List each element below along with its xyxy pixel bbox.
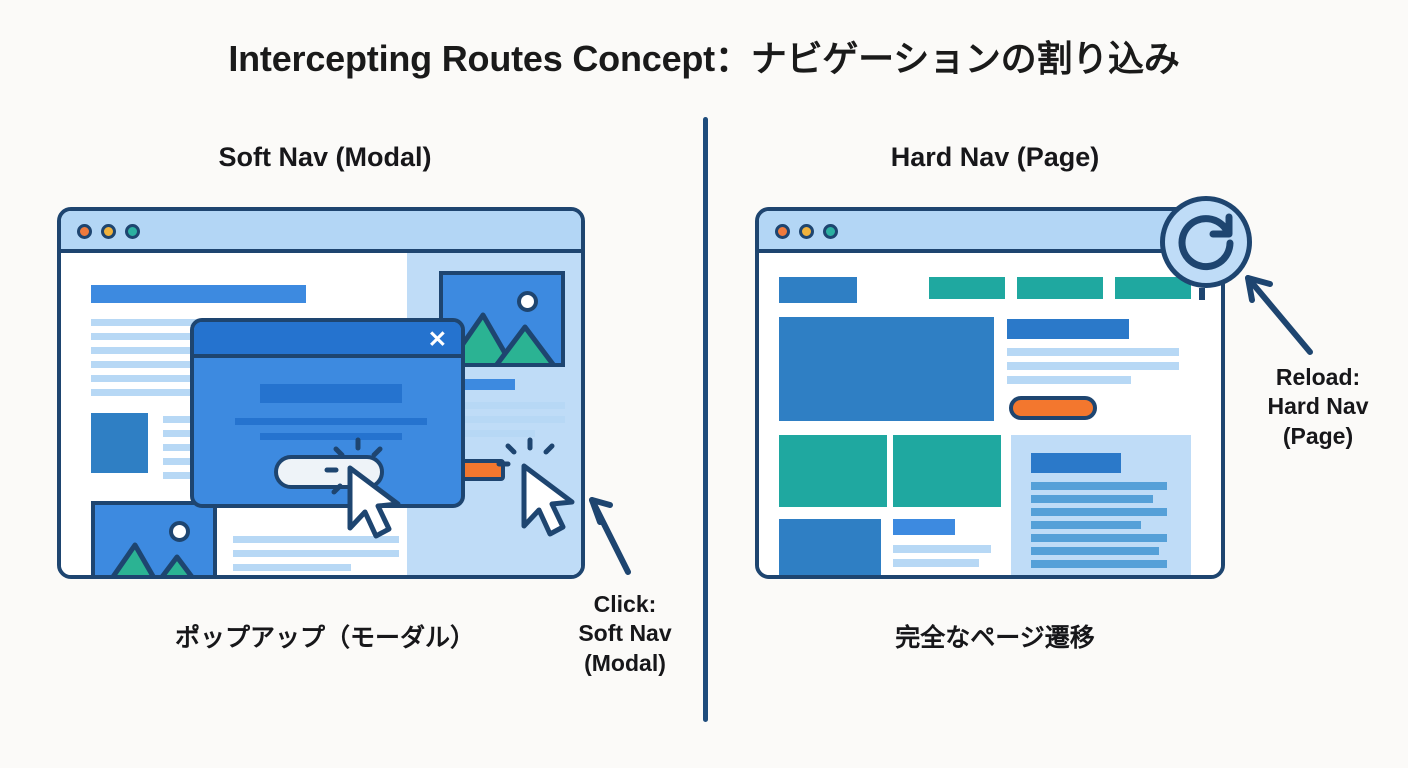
content-text-line bbox=[1007, 362, 1179, 370]
modal-action-button[interactable] bbox=[274, 455, 384, 489]
left-panel-caption: ポップアップ（モーダル） bbox=[55, 618, 595, 654]
modal-heading-bar bbox=[260, 384, 402, 403]
content-text-line bbox=[233, 536, 399, 543]
minimize-dot[interactable] bbox=[799, 224, 814, 239]
card-block bbox=[779, 435, 887, 507]
nav-item-block[interactable] bbox=[929, 277, 1005, 299]
left-annotation-arrow bbox=[592, 500, 628, 572]
footer-heading-bar bbox=[893, 519, 955, 535]
close-icon[interactable]: ✕ bbox=[428, 328, 447, 350]
aside-heading-bar bbox=[1031, 453, 1121, 473]
mountain-icon bbox=[95, 505, 217, 579]
content-text-line bbox=[1007, 348, 1179, 356]
content-text-line bbox=[1031, 495, 1153, 503]
modal-text-line bbox=[260, 433, 402, 440]
minimize-dot[interactable] bbox=[101, 224, 116, 239]
close-dot[interactable] bbox=[775, 224, 790, 239]
right-annotation-label: Reload: Hard Nav (Page) bbox=[1238, 363, 1398, 451]
content-text-line bbox=[1031, 521, 1141, 529]
right-panel-caption: 完全なページ遷移 bbox=[760, 618, 1230, 654]
content-text-line bbox=[233, 564, 351, 571]
reload-badge[interactable] bbox=[1160, 196, 1252, 288]
right-panel-heading: Hard Nav (Page) bbox=[760, 142, 1230, 173]
modal-text-line bbox=[235, 418, 427, 425]
left-annotation-label: Click: Soft Nav (Modal) bbox=[546, 590, 704, 678]
diagram-canvas: Intercepting Routes Concept：ナビゲーションの割り込み… bbox=[0, 0, 1408, 768]
image-placeholder-bottom-left bbox=[91, 501, 217, 579]
content-text-line bbox=[893, 559, 979, 567]
content-image-block bbox=[91, 413, 148, 473]
right-annotation-arrow bbox=[1248, 278, 1310, 352]
browser-titlebar-right bbox=[759, 211, 1221, 253]
modal-dialog[interactable]: ✕ bbox=[190, 318, 465, 508]
maximize-dot[interactable] bbox=[823, 224, 838, 239]
footer-image-block bbox=[779, 519, 881, 579]
content-text-line bbox=[893, 545, 991, 553]
nav-item-block[interactable] bbox=[1017, 277, 1103, 299]
page-title: Intercepting Routes Concept：ナビゲーションの割り込み bbox=[0, 30, 1408, 82]
hero-image-block bbox=[779, 317, 994, 421]
content-heading-bar bbox=[91, 285, 306, 303]
site-logo-block bbox=[779, 277, 857, 303]
card-block bbox=[893, 435, 1001, 507]
browser-window-hard-nav bbox=[755, 207, 1225, 579]
hero-heading-bar bbox=[1007, 319, 1129, 339]
content-text-line bbox=[1007, 376, 1131, 384]
content-text-line bbox=[1031, 560, 1167, 568]
maximize-dot[interactable] bbox=[125, 224, 140, 239]
modal-titlebar: ✕ bbox=[194, 322, 461, 358]
browser-titlebar-left bbox=[61, 211, 581, 253]
browser-viewport-right bbox=[759, 253, 1221, 575]
content-text-line bbox=[1031, 534, 1167, 542]
cta-button-orange[interactable] bbox=[1009, 396, 1097, 420]
content-text-line bbox=[1031, 482, 1167, 490]
content-text-line bbox=[1031, 508, 1167, 516]
content-text-line bbox=[233, 550, 399, 557]
reload-icon bbox=[1165, 201, 1247, 283]
left-panel-heading: Soft Nav (Modal) bbox=[55, 142, 595, 173]
close-dot[interactable] bbox=[77, 224, 92, 239]
content-text-line bbox=[1031, 547, 1159, 555]
